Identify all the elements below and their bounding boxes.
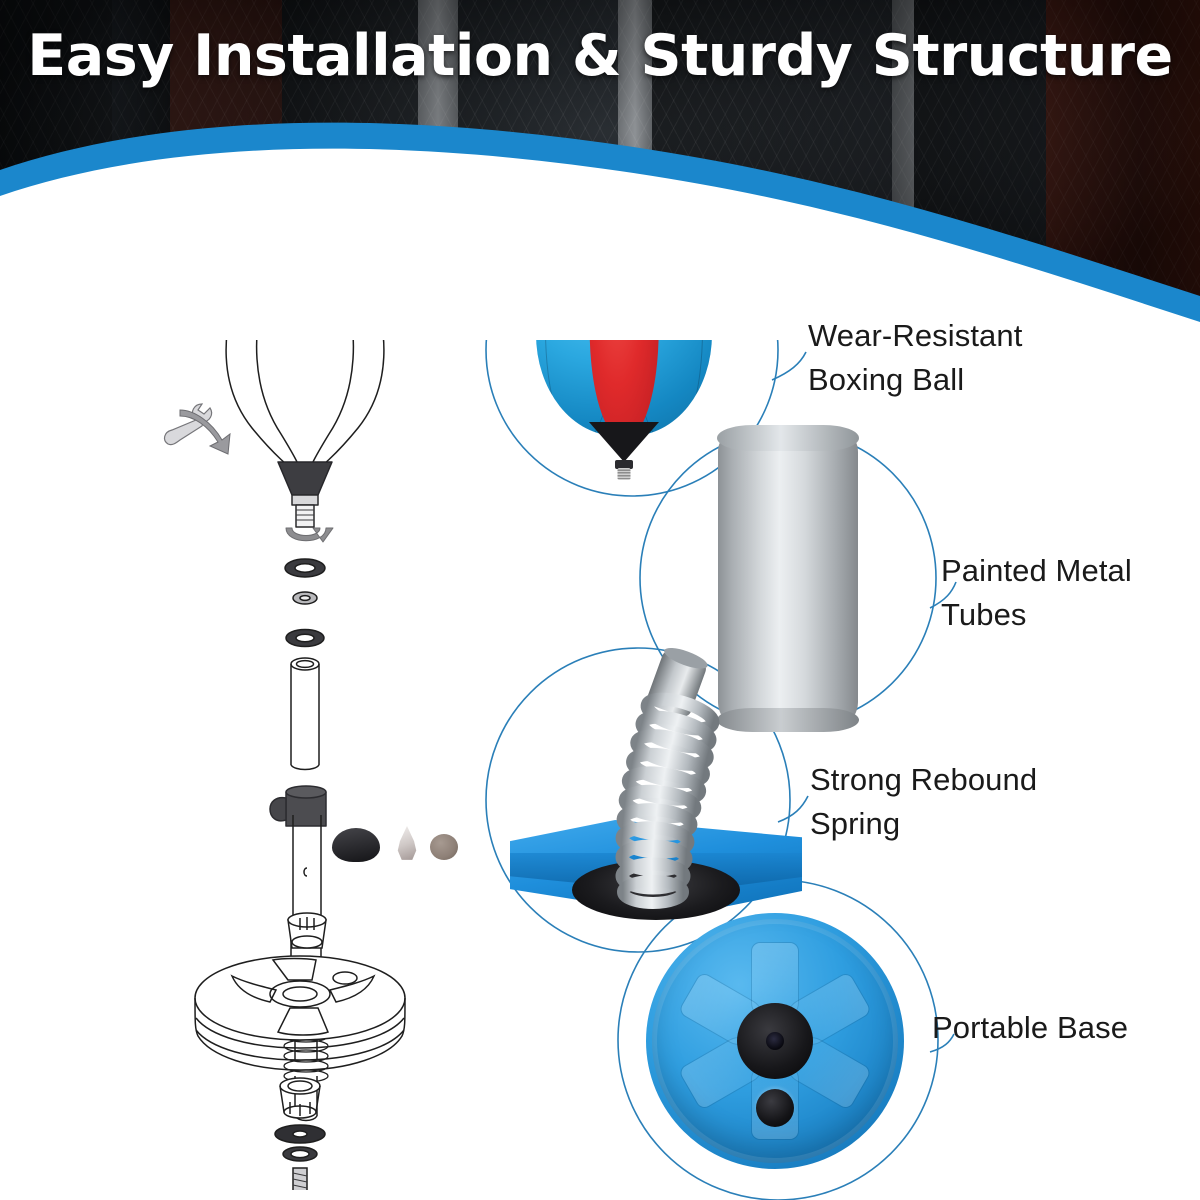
- spring-coil-illustration: [554, 648, 764, 916]
- ball-valve: [618, 468, 631, 480]
- callout-label-portable-base: Portable Base: [932, 1006, 1128, 1050]
- infographic-canvas: Easy Installation & Sturdy Structure: [0, 0, 1200, 1200]
- page-title: Easy Installation & Sturdy Structure: [0, 26, 1200, 86]
- rebound-spring-photo: [506, 648, 806, 938]
- portable-base-photo: [646, 913, 904, 1169]
- ball-base-cone: [589, 422, 659, 462]
- tube-top-ellipse: [717, 425, 859, 451]
- base-fill-plug: [756, 1089, 794, 1127]
- callout-label-rebound-spring: Strong Rebound Spring: [810, 758, 1037, 846]
- callout-label-boxing-ball: Wear-Resistant Boxing Ball: [808, 314, 1022, 402]
- base-center-hole: [766, 1032, 784, 1050]
- callout-label-metal-tubes: Painted Metal Tubes: [941, 549, 1132, 637]
- spring-coil-rings: [621, 693, 716, 903]
